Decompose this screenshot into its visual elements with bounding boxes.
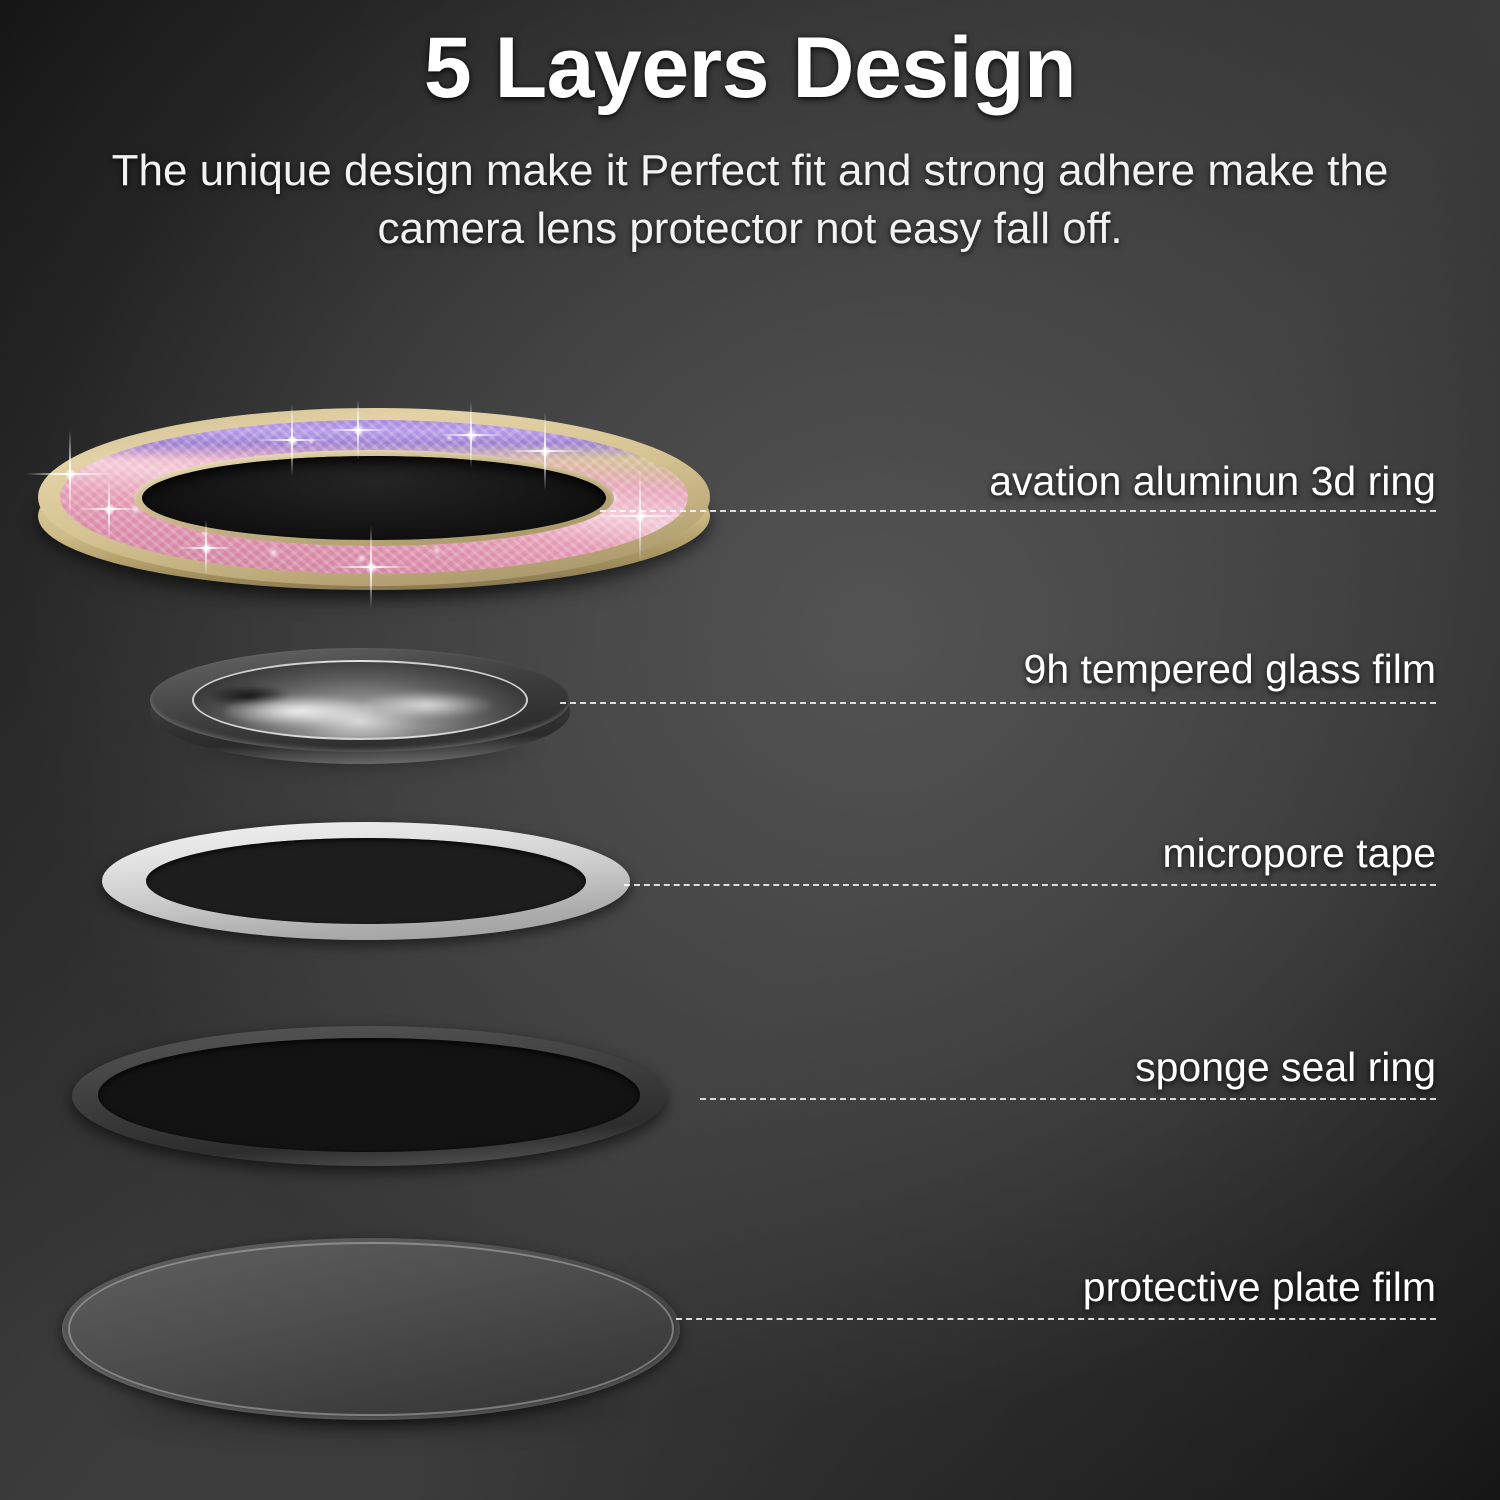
layer-2-glass-film-graphic [150, 648, 570, 778]
protective-plate-edge-highlight [68, 1242, 674, 1416]
layer-5-label: protective plate film [1083, 1264, 1436, 1311]
layer-1-label: avation aluminun 3d ring [989, 458, 1436, 505]
micropore-tape-aperture [146, 838, 586, 924]
layer-1-bling-ring-graphic [38, 408, 710, 600]
layer-4-sponge-seal-graphic [72, 1026, 666, 1172]
layer-2-leader-line [560, 702, 1436, 704]
bling-ring-aperture [142, 456, 606, 540]
glass-film-highlight-secondary [362, 692, 492, 718]
sponge-seal-aperture [98, 1038, 640, 1152]
glass-film-highlight [224, 696, 374, 726]
layer-3-leader-line [624, 884, 1436, 886]
layer-1-leader-line [600, 510, 1436, 512]
layer-5-protective-plate-graphic [62, 1238, 680, 1438]
layer-3-label: micropore tape [1163, 830, 1436, 877]
layer-2-label: 9h tempered glass film [1024, 646, 1436, 693]
page-title: 5 Layers Design [0, 22, 1500, 115]
layer-4-leader-line [700, 1098, 1436, 1100]
page-subtitle: The unique design make it Perfect fit an… [0, 142, 1500, 258]
infographic-canvas: 5 Layers Design The unique design make i… [0, 0, 1500, 1500]
layer-4-label: sponge seal ring [1135, 1044, 1436, 1091]
layer-5-leader-line [676, 1318, 1436, 1320]
layer-3-micropore-tape-graphic [102, 822, 630, 946]
